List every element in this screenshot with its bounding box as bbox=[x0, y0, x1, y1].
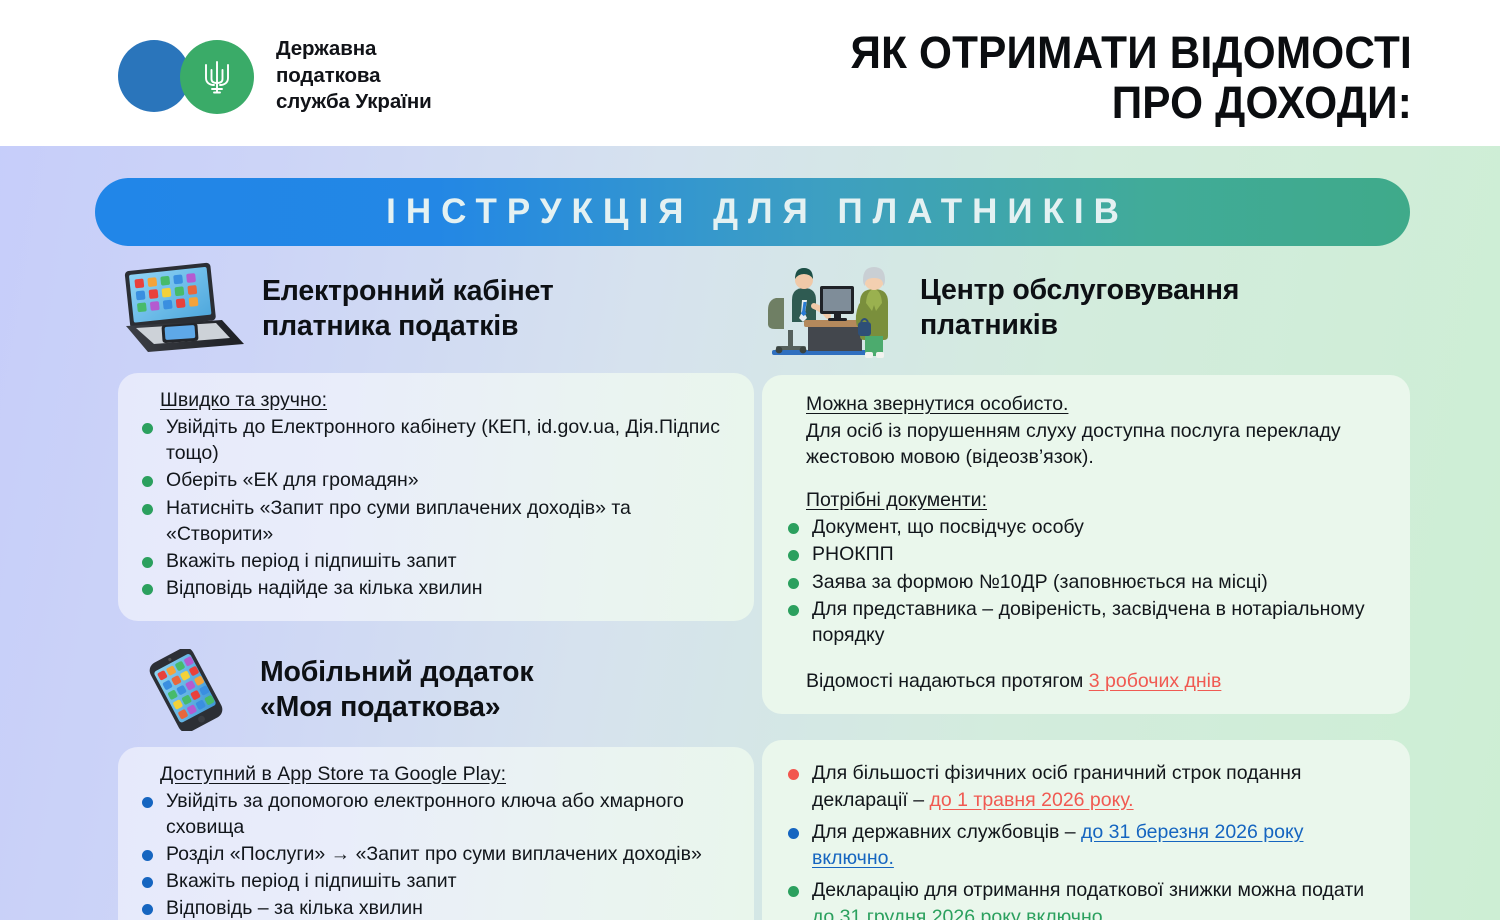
section-servicecenter-title: Центр обслуговування платників bbox=[920, 273, 1239, 343]
section-servicecenter-title-line-2: платників bbox=[920, 308, 1239, 343]
list-item: РНОКПП bbox=[784, 541, 1388, 567]
left-column: Електронний кабінет платника податків Шв… bbox=[118, 262, 754, 920]
deadline-2-text: Декларацію для отримання податкової зниж… bbox=[812, 879, 1364, 901]
section-ecabinet-header: Електронний кабінет платника податків bbox=[118, 262, 754, 356]
instruction-banner-label: ІНСТРУКЦІЯ ДЛЯ ПЛАТНИКІВ bbox=[376, 192, 1129, 232]
ecabinet-steps-list: Увійдіть до Електронного кабінету (КЕП, … bbox=[138, 414, 734, 602]
list-item: Декларацію для отримання податкової зниж… bbox=[784, 877, 1388, 920]
servicecenter-processing-note: Відомості надаються протягом 3 робочих д… bbox=[806, 668, 1388, 694]
agency-logo: Державна податкова служба України bbox=[118, 36, 432, 116]
processing-days-highlight: 3 робочих днів bbox=[1089, 670, 1222, 692]
section-servicecenter-title-line-1: Центр обслуговування bbox=[920, 273, 1239, 308]
servicecenter-card-lead: Можна звернутися особисто. bbox=[806, 393, 1068, 416]
logo-text: Державна податкова служба України bbox=[276, 36, 432, 116]
list-item: Документ, що посвідчує особу bbox=[784, 514, 1388, 540]
list-item: Розділ «Послуги» → «Запит про суми випла… bbox=[138, 841, 734, 867]
list-item: Для більшості фізичних осіб граничний ст… bbox=[784, 760, 1388, 812]
mobileapp-card: Доступний в App Store та Google Play: Ув… bbox=[118, 747, 754, 920]
page-header: Державна податкова служба України ЯК ОТР… bbox=[0, 0, 1500, 146]
servicecenter-card-intro: Для осіб із порушенням слуху доступна по… bbox=[806, 418, 1388, 470]
section-ecabinet-title: Електронний кабінет платника податків bbox=[262, 274, 554, 344]
laptop-icon bbox=[118, 262, 246, 356]
list-item: Вкажіть період і підпишіть запит bbox=[138, 868, 734, 894]
mobileapp-card-lead: Доступний в App Store та Google Play: bbox=[160, 763, 506, 786]
list-item: Натисніть «Запит про суми виплачених дох… bbox=[138, 495, 734, 547]
list-item: Увійдіть за допомогою електронного ключа… bbox=[138, 788, 734, 840]
page-title-line-1: ЯК ОТРИМАТИ ВІДОМОСТІ bbox=[651, 28, 1412, 78]
section-ecabinet-title-line-1: Електронний кабінет bbox=[262, 274, 554, 309]
deadlines-card: Для більшості фізичних осіб граничний ст… bbox=[762, 740, 1410, 920]
deadline-0-highlight: до 1 травня 2026 року. bbox=[930, 789, 1134, 811]
green-circle-trident-icon bbox=[180, 40, 254, 114]
list-item: Відповідь надійде за кілька хвилин bbox=[138, 575, 734, 601]
logo-marks bbox=[118, 38, 274, 114]
list-item: Оберіть «ЕК для громадян» bbox=[138, 467, 734, 493]
section-mobileapp-title-line-2: «Моя податкова» bbox=[260, 690, 533, 725]
list-item: Увійдіть до Електронного кабінету (КЕП, … bbox=[138, 414, 734, 466]
list-item: Відповідь – за кілька хвилин bbox=[138, 895, 734, 920]
servicecenter-docs-list: Документ, що посвідчує особу РНОКПП Заяв… bbox=[784, 514, 1388, 648]
servicecenter-docs-lead: Потрібні документи: bbox=[806, 489, 987, 512]
deadlines-list: Для більшості фізичних осіб граничний ст… bbox=[784, 760, 1388, 920]
logo-text-line-3: служба України bbox=[276, 89, 432, 116]
page-title-line-2: ПРО ДОХОДИ: bbox=[651, 78, 1412, 128]
section-servicecenter-header: Центр обслуговування платників bbox=[762, 258, 1410, 358]
deadline-1-text: Для державних службовців – bbox=[812, 821, 1081, 843]
section-mobileapp-header: Мобільний додаток «Моя податкова» bbox=[118, 649, 754, 731]
deadline-2-highlight: до 31 грудня 2026 року включно. bbox=[812, 906, 1108, 920]
infographic-poster: Державна податкова служба України ЯК ОТР… bbox=[0, 0, 1500, 920]
mobileapp-steps-list: Увійдіть за допомогою електронного ключа… bbox=[138, 788, 734, 920]
service-center-icon bbox=[762, 258, 906, 358]
page-title: ЯК ОТРИМАТИ ВІДОМОСТІ ПРО ДОХОДИ: bbox=[651, 28, 1412, 129]
list-item: Заява за формою №10ДР (заповнюється на м… bbox=[784, 569, 1388, 595]
trident-icon bbox=[202, 58, 232, 96]
logo-text-line-1: Державна bbox=[276, 36, 432, 63]
list-item: Для представника – довіреність, засвідче… bbox=[784, 596, 1388, 648]
list-item: Для державних службовців – до 31 березня… bbox=[784, 819, 1388, 871]
servicecenter-card: Можна звернутися особисто. Для осіб із п… bbox=[762, 375, 1410, 714]
section-ecabinet-title-line-2: платника податків bbox=[262, 309, 554, 344]
list-item: Вкажіть період і підпишіть запит bbox=[138, 548, 734, 574]
instruction-banner: ІНСТРУКЦІЯ ДЛЯ ПЛАТНИКІВ bbox=[95, 178, 1410, 246]
section-mobileapp-title-line-1: Мобільний додаток bbox=[260, 655, 533, 690]
smartphone-icon bbox=[134, 649, 238, 731]
ecabinet-card: Швидко та зручно: Увійдіть до Електронно… bbox=[118, 373, 754, 621]
logo-text-line-2: податкова bbox=[276, 63, 432, 90]
ecabinet-card-lead: Швидко та зручно: bbox=[160, 389, 327, 412]
processing-note-prefix: Відомості надаються протягом bbox=[806, 670, 1089, 692]
spacer bbox=[784, 470, 1388, 489]
section-mobileapp-title: Мобільний додаток «Моя податкова» bbox=[260, 655, 533, 725]
right-column: Центр обслуговування платників Можна зве… bbox=[762, 258, 1410, 920]
spacer bbox=[784, 649, 1388, 668]
